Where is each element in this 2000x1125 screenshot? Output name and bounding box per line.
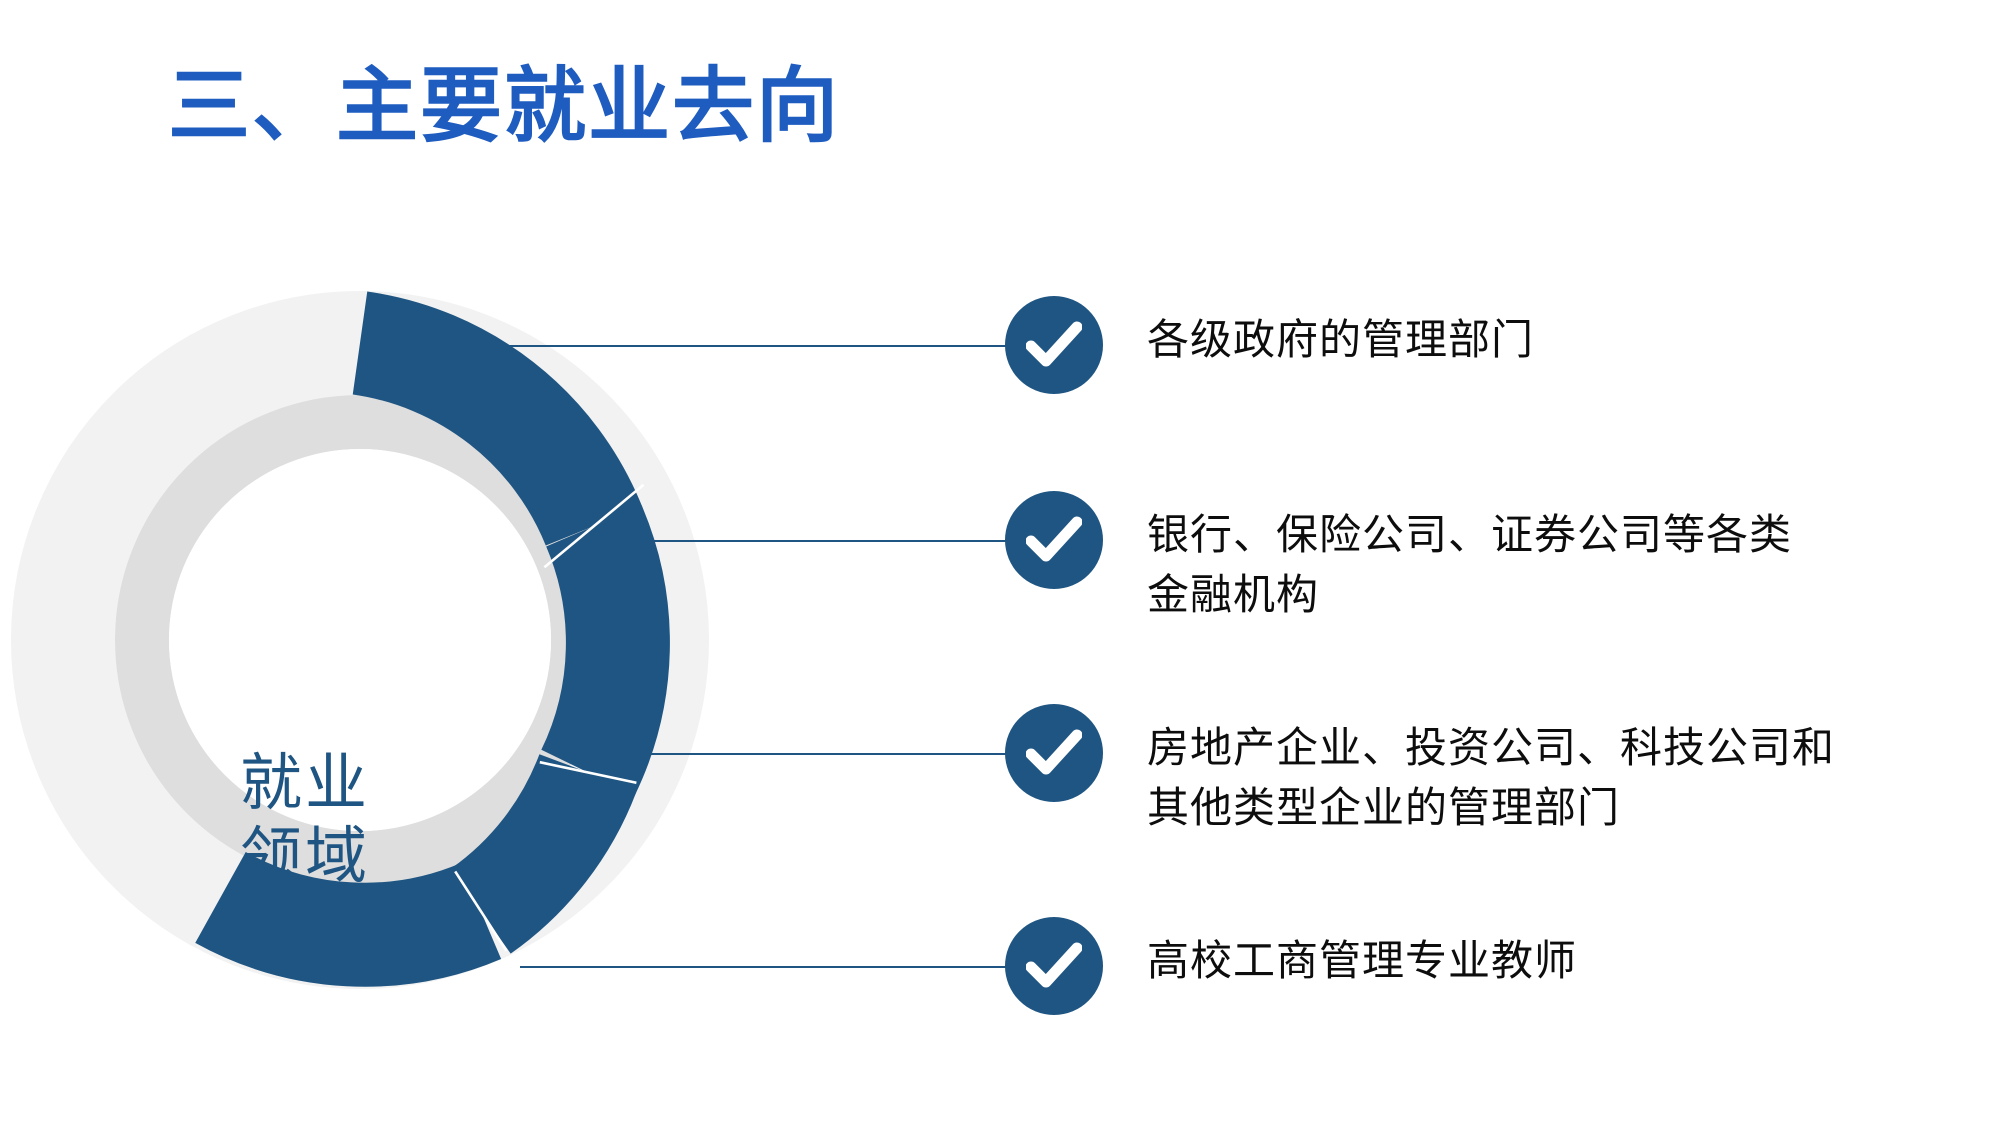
check-icon bbox=[1026, 941, 1082, 991]
connector-line-2 bbox=[600, 540, 1007, 542]
slide-canvas: 三、主要就业去向 bbox=[0, 0, 2000, 1125]
check-badge-3[interactable] bbox=[1005, 704, 1103, 802]
list-item-text-3: 房地产企业、投资公司、科技公司和 其他类型企业的管理部门 bbox=[1147, 704, 1835, 839]
check-icon bbox=[1026, 728, 1082, 778]
list-item-text-4: 高校工商管理专业教师 bbox=[1147, 917, 1577, 993]
donut-chart-svg bbox=[10, 280, 710, 1000]
page-title: 三、主要就业去向 bbox=[168, 62, 840, 152]
list-item[interactable]: 各级政府的管理部门 bbox=[1005, 296, 1534, 394]
list-item-line: 高校工商管理专业教师 bbox=[1147, 933, 1577, 993]
list-item-text-1: 各级政府的管理部门 bbox=[1147, 296, 1534, 372]
list-item-line: 各级政府的管理部门 bbox=[1147, 312, 1534, 372]
list-item-line: 其他类型企业的管理部门 bbox=[1147, 780, 1835, 840]
list-item[interactable]: 高校工商管理专业教师 bbox=[1005, 917, 1577, 1015]
donut-hole bbox=[169, 449, 551, 831]
list-item-line: 金融机构 bbox=[1147, 567, 1792, 627]
connector-line-1 bbox=[462, 345, 1007, 347]
check-icon bbox=[1026, 515, 1082, 565]
list-item[interactable]: 银行、保险公司、证券公司等各类 金融机构 bbox=[1005, 491, 1792, 626]
check-badge-4[interactable] bbox=[1005, 917, 1103, 1015]
check-badge-2[interactable] bbox=[1005, 491, 1103, 589]
list-item-text-2: 银行、保险公司、证券公司等各类 金融机构 bbox=[1147, 491, 1792, 626]
list-item-line: 银行、保险公司、证券公司等各类 bbox=[1147, 507, 1792, 567]
check-icon bbox=[1026, 320, 1082, 370]
check-badge-1[interactable] bbox=[1005, 296, 1103, 394]
connector-line-4 bbox=[520, 966, 1007, 968]
list-item[interactable]: 房地产企业、投资公司、科技公司和 其他类型企业的管理部门 bbox=[1005, 704, 1835, 839]
list-item-line: 房地产企业、投资公司、科技公司和 bbox=[1147, 720, 1835, 780]
donut-chart: 就业 领域 bbox=[10, 280, 710, 1000]
connector-line-3 bbox=[635, 753, 1007, 755]
